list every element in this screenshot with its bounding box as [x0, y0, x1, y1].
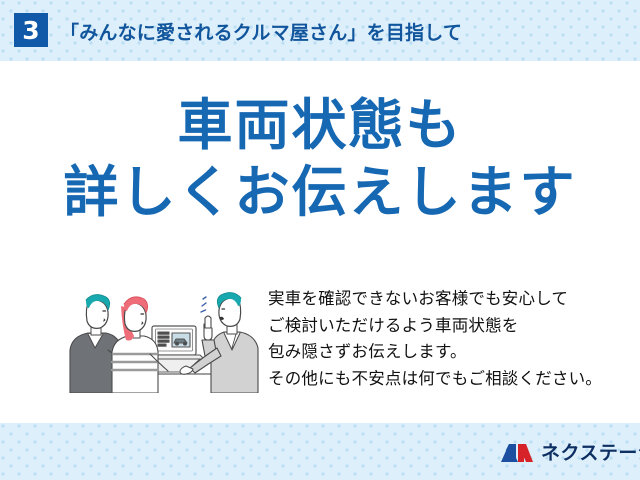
nextage-n-mark-icon [500, 441, 534, 465]
promo-slide: 3 「みんなに愛されるクルマ屋さん」を目指して 車両状態も 詳しくお伝えします [0, 0, 640, 480]
description-line-2: ご検討いただけるよう車両状態を [268, 313, 618, 340]
page-title-text: 「みんなに愛されるクルマ屋さん」を目指して [60, 18, 462, 45]
description-line-4: その他にも不安点は何でもご相談ください。 [268, 366, 618, 393]
step-number-badge: 3 [14, 13, 48, 47]
headline-line-2: 詳しくお伝えします [0, 163, 640, 222]
consultation-illustration-svg [62, 278, 260, 393]
headline-line-1: 車両状態も [0, 96, 640, 155]
page-title: 「みんなに愛されるクルマ屋さん」を目指して [60, 17, 462, 45]
step-number-label: 3 [22, 18, 39, 43]
headline: 車両状態も 詳しくお伝えします [0, 96, 640, 223]
description-text: 実車を確認できないお客様でも安心して ご検討いただけるよう車両状態を 包み隠さず… [268, 286, 618, 393]
description-line-1: 実車を確認できないお客様でも安心して [268, 286, 618, 313]
brand-logo: ネクステージ [500, 440, 640, 466]
description-line-3: 包み隠さずお伝えします。 [268, 339, 618, 366]
brand-name-label: ネクステージ [541, 444, 640, 463]
consultation-illustration [62, 278, 260, 393]
